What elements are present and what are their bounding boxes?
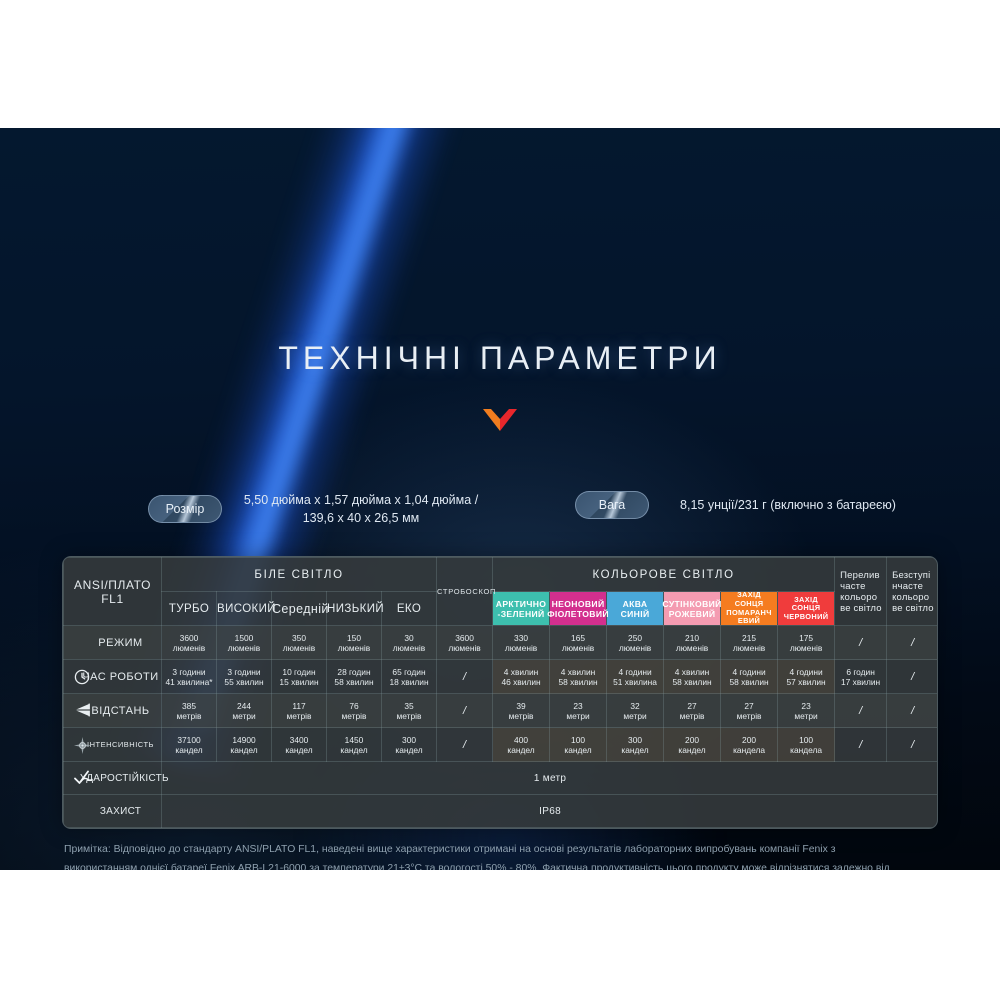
cell-color-0-0: 330люменів — [493, 626, 550, 660]
cell-color-1-5: 4 години57 хвилин — [778, 660, 835, 694]
span-row-label-1: ЗАХИСТ — [64, 795, 162, 828]
intensity-icon — [74, 737, 90, 753]
table-body: ANSI/ПЛАТО FL1БІЛЕ СВІТЛОСТРОБОСКОПКОЛЬО… — [64, 558, 939, 828]
cell-strobe-0: 3600люменів — [437, 626, 493, 660]
column-header-color-5: ЗАХІД СОНЦЯ ЧЕРВОНИЙ — [778, 592, 835, 626]
cell-white-2-3: 76метрів — [327, 694, 382, 728]
cell-color-2-4: 27метрів — [721, 694, 778, 728]
hero-panel: ТЕХНІЧНІ ПАРАМЕТРИ Розмір 5,50 дюйма x 1… — [0, 128, 1000, 870]
column-header-white-3: НИЗЬКИЙ — [327, 592, 382, 626]
page-title: ТЕХНІЧНІ ПАРАМЕТРИ — [0, 340, 1000, 377]
cell-color-0-5: 175люменів — [778, 626, 835, 660]
color-swatch-2: АКВА СИНІЙ — [607, 592, 663, 625]
cell-tail-2-1: / — [887, 694, 938, 728]
specifications-table: ANSI/ПЛАТО FL1БІЛЕ СВІТЛОСТРОБОСКОПКОЛЬО… — [63, 557, 938, 828]
table-span-row: ЗАХИСТIP68 — [64, 795, 939, 828]
cell-tail-3-0: / — [835, 728, 887, 762]
cell-white-3-2: 3400кандел — [272, 728, 327, 762]
cell-white-0-3: 150люменів — [327, 626, 382, 660]
column-header-white-1: ВИСОКИЙ — [217, 592, 272, 626]
table-span-row: УДАРОСТІЙКІСТЬ1 метр — [64, 762, 939, 795]
cell-strobe-3: / — [437, 728, 493, 762]
cell-color-3-2: 300кандел — [607, 728, 664, 762]
spec-weight: Вага 8,15 унції/231 г (включно з батареє… — [575, 491, 913, 519]
table-corner-label: ANSI/ПЛАТО FL1 — [64, 558, 162, 626]
row-label-2: ВІДСТАНЬ — [64, 694, 162, 728]
clock-icon — [74, 669, 90, 685]
cell-white-0-2: 350люменів — [272, 626, 327, 660]
cell-color-1-0: 4 хвилин46 хвилин — [493, 660, 550, 694]
row-label-0: РЕЖИМ — [64, 626, 162, 660]
cell-color-2-2: 32метри — [607, 694, 664, 728]
group-header-strobe: СТРОБОСКОП — [437, 558, 493, 626]
cell-white-0-0: 3600люменів — [162, 626, 217, 660]
column-header-tail-0: Перелив часте кольоро ве світло — [835, 558, 887, 626]
cell-strobe-2: / — [437, 694, 493, 728]
table-row: РЕЖИМ3600люменів1500люменів350люменів150… — [64, 626, 939, 660]
cell-white-3-0: 37100кандел — [162, 728, 217, 762]
color-swatch-5: ЗАХІД СОНЦЯ ЧЕРВОНИЙ — [778, 592, 834, 625]
cell-color-3-4: 200кандела — [721, 728, 778, 762]
row-label-1: ЧАС РОБОТИ — [64, 660, 162, 694]
cell-color-0-3: 210люменів — [664, 626, 721, 660]
color-swatch-0: АРКТИЧНО -ЗЕЛЕНИЙ — [493, 592, 549, 625]
cell-color-2-0: 39метрів — [493, 694, 550, 728]
cell-white-1-2: 10 годин15 хвилин — [272, 660, 327, 694]
spec-weight-value: 8,15 унції/231 г (включно з батареєю) — [663, 496, 913, 514]
cell-color-1-1: 4 хвилин58 хвилин — [550, 660, 607, 694]
check-impact-icon — [74, 770, 90, 786]
chevron-down-icon — [483, 409, 517, 431]
color-swatch-1: НЕОНОВИЙ ФІОЛЕТОВИЙ — [550, 592, 606, 625]
spec-size-pill: Розмір — [148, 495, 222, 523]
cell-white-2-1: 244метри — [217, 694, 272, 728]
color-swatch-4: ЗАХІД СОНЦЯ ПОМАРАНЧ ЕВИЙ — [721, 592, 777, 625]
footnote: Примітка: Відповідно до стандарту ANSI/P… — [64, 840, 890, 870]
cell-color-3-0: 400кандел — [493, 728, 550, 762]
cell-tail-2-0: / — [835, 694, 887, 728]
cell-white-1-4: 65 годин18 хвилин — [382, 660, 437, 694]
cell-color-1-4: 4 години58 хвилин — [721, 660, 778, 694]
cell-color-2-3: 27метрів — [664, 694, 721, 728]
cell-strobe-1: / — [437, 660, 493, 694]
column-header-color-3: СУТІНКОВИЙ РОЖЕВИЙ — [664, 592, 721, 626]
spec-size: Розмір 5,50 дюйма x 1,57 дюйма x 1,04 дю… — [148, 491, 486, 527]
table-mode-header-row: ТУРБОВИСОКИЙСереднійНИЗЬКИЙЕКОАРКТИЧНО -… — [64, 592, 939, 626]
footnote-line-1: Примітка: Відповідно до стандарту ANSI/P… — [64, 844, 890, 870]
cell-white-0-4: 30люменів — [382, 626, 437, 660]
beam-distance-icon — [74, 703, 90, 719]
spec-size-pill-label: Розмір — [166, 502, 205, 516]
cell-color-2-5: 23метри — [778, 694, 835, 728]
column-header-white-4: ЕКО — [382, 592, 437, 626]
cell-tail-1-0: 6 годин17 хвилин — [835, 660, 887, 694]
cell-color-0-4: 215люменів — [721, 626, 778, 660]
cell-white-0-1: 1500люменів — [217, 626, 272, 660]
span-row-value-0: 1 метр — [162, 762, 939, 795]
cell-white-3-1: 14900кандел — [217, 728, 272, 762]
cell-white-2-4: 35метрів — [382, 694, 437, 728]
cell-color-0-1: 165люменів — [550, 626, 607, 660]
column-header-tail-1: Безступі нчасте кольоро ве світло — [887, 558, 938, 626]
column-header-color-4: ЗАХІД СОНЦЯ ПОМАРАНЧ ЕВИЙ — [721, 592, 778, 626]
table-group-header-row: ANSI/ПЛАТО FL1БІЛЕ СВІТЛОСТРОБОСКОПКОЛЬО… — [64, 558, 939, 592]
spec-weight-pill: Вага — [575, 491, 649, 519]
cell-color-2-1: 23метри — [550, 694, 607, 728]
column-header-color-1: НЕОНОВИЙ ФІОЛЕТОВИЙ — [550, 592, 607, 626]
cell-color-1-2: 4 години51 хвилина — [607, 660, 664, 694]
cell-color-1-3: 4 хвилин58 хвилин — [664, 660, 721, 694]
column-header-color-2: АКВА СИНІЙ — [607, 592, 664, 626]
span-row-label-0: УДАРОСТІЙКІСТЬ — [64, 762, 162, 795]
group-header-color-light: КОЛЬОРОВЕ СВІТЛО — [493, 558, 835, 592]
specifications-table-card: ANSI/ПЛАТО FL1БІЛЕ СВІТЛОСТРОБОСКОПКОЛЬО… — [62, 556, 938, 829]
cell-white-1-1: 3 години55 хвилин — [217, 660, 272, 694]
cell-white-1-0: 3 години41 хвилина* — [162, 660, 217, 694]
cell-color-3-3: 200кандел — [664, 728, 721, 762]
cell-tail-0-0: / — [835, 626, 887, 660]
column-header-white-0: ТУРБО — [162, 592, 217, 626]
cell-color-3-1: 100кандел — [550, 728, 607, 762]
cell-white-3-4: 300кандел — [382, 728, 437, 762]
cell-tail-1-1: / — [887, 660, 938, 694]
cell-white-2-2: 117метрів — [272, 694, 327, 728]
cell-tail-0-1: / — [887, 626, 938, 660]
cell-white-2-0: 385метрів — [162, 694, 217, 728]
table-row: ЧАС РОБОТИ3 години41 хвилина*3 години55 … — [64, 660, 939, 694]
spec-size-value: 5,50 дюйма x 1,57 дюйма x 1,04 дюйма / 1… — [236, 491, 486, 527]
table-row: ІНТЕНСИВНІСТЬ37100кандел14900кандел3400к… — [64, 728, 939, 762]
table-row: ВІДСТАНЬ385метрів244метри117метрів76метр… — [64, 694, 939, 728]
column-header-white-2: Середній — [272, 592, 327, 626]
cell-white-1-3: 28 годин58 хвилин — [327, 660, 382, 694]
cell-color-3-5: 100кандела — [778, 728, 835, 762]
cell-white-3-3: 1450кандел — [327, 728, 382, 762]
cell-color-0-2: 250люменів — [607, 626, 664, 660]
spec-weight-pill-label: Вага — [599, 498, 626, 512]
row-label-3: ІНТЕНСИВНІСТЬ — [64, 728, 162, 762]
column-header-color-0: АРКТИЧНО -ЗЕЛЕНИЙ — [493, 592, 550, 626]
cell-tail-3-1: / — [887, 728, 938, 762]
span-row-value-1: IP68 — [162, 795, 939, 828]
color-swatch-3: СУТІНКОВИЙ РОЖЕВИЙ — [664, 592, 720, 625]
group-header-white-light: БІЛЕ СВІТЛО — [162, 558, 437, 592]
